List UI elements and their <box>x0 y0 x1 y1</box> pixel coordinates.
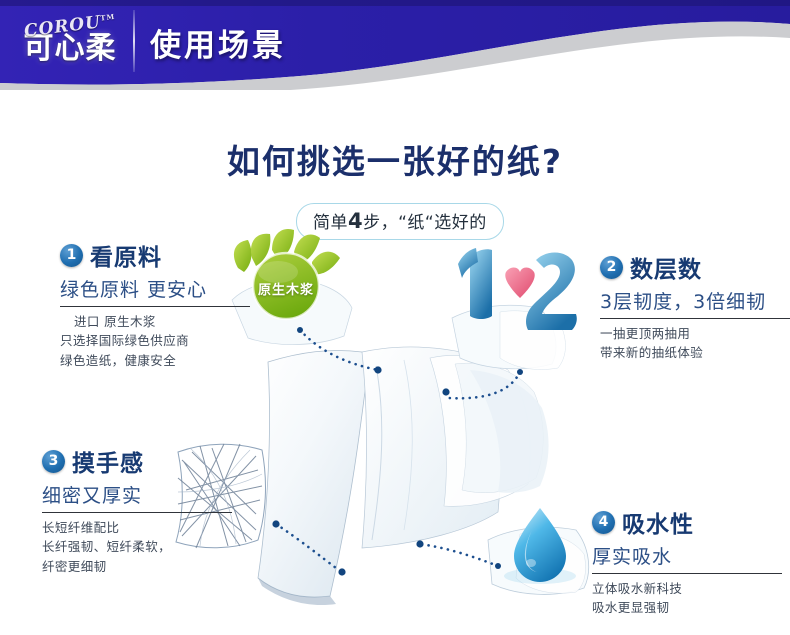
central-tissue-graphic <box>258 347 549 605</box>
step-3-desc-line-2: 长纤强韧、短纤柔软， <box>42 537 232 556</box>
step-1-description: 进口 原生木浆 只选择国际绿色供应商 绿色造纸，健康安全 <box>60 312 250 370</box>
step-3-desc-line-3: 纤密更细韧 <box>42 557 232 576</box>
brand-logo: COROUTM 可心柔 <box>14 6 126 76</box>
step-block-3: 3 摸手感 细密又厚实 长短纤维配比 长纤强韧、短纤柔软， 纤密更细韧 <box>42 444 232 576</box>
step-4-heading: 4 吸水性 <box>592 505 782 539</box>
step-3-heading: 3 摸手感 <box>42 444 232 478</box>
step-4-desc-line-1: 立体吸水新科技 <box>592 579 782 598</box>
connector-dotted-lines <box>276 330 520 568</box>
step-4-description: 立体吸水新科技 吸水更显强韧 <box>592 579 782 618</box>
connector-step3 <box>276 524 336 568</box>
step-2-title: 数层数 <box>630 250 702 284</box>
connector-step1 <box>300 330 378 370</box>
page-title: 如何挑选一张好的纸? <box>0 135 790 183</box>
step-block-2: 2 数层数 3层韧度，3倍细韧 一抽更顶两抽用 带来新的抽纸体验 <box>600 250 790 363</box>
step-1-desc-line-2: 只选择国际绿色供应商 <box>60 331 250 350</box>
step-block-1: 1 看原料 绿色原料 更安心 进口 原生木浆 只选择国际绿色供应商 绿色造纸，健… <box>60 238 250 370</box>
step-4-divider <box>592 573 782 574</box>
step-4-subtitle: 厚实吸水 <box>592 542 782 569</box>
layers-number-graphic <box>452 248 577 370</box>
subtitle-suffix: 步，“纸“选好的 <box>363 213 487 233</box>
subtitle-prefix: 简单 <box>313 213 348 233</box>
step-3-subtitle: 细密又厚实 <box>42 481 232 508</box>
step-3-description: 长短纤维配比 长纤强韧、短纤柔软， 纤密更细韧 <box>42 518 232 576</box>
step-4-title: 吸水性 <box>622 505 694 539</box>
step-2-heading: 2 数层数 <box>600 250 790 284</box>
header-divider <box>133 10 135 72</box>
step-block-4: 4 吸水性 厚实吸水 立体吸水新科技 吸水更显强韧 <box>592 505 782 618</box>
subtitle-badge: 简单4步，“纸“选好的 <box>296 203 504 240</box>
page-header: COROUTM 可心柔 使用场景 <box>0 0 790 90</box>
step-1-number-badge: 1 <box>60 244 83 267</box>
step-1-desc-line-3: 绿色造纸，健康安全 <box>60 351 250 370</box>
connector-step4 <box>420 544 498 566</box>
brand-trademark-icon: TM <box>100 12 116 23</box>
step-1-desc-line-1: 进口 原生木浆 <box>60 312 250 331</box>
seal-label: 原生木浆 <box>256 279 316 298</box>
step-3-number-badge: 3 <box>42 450 65 473</box>
connector-step2 <box>448 372 520 398</box>
step-3-divider <box>42 512 232 513</box>
step-4-number-badge: 4 <box>592 511 615 534</box>
step-3-desc-line-1: 长短纤维配比 <box>42 518 232 537</box>
step-2-desc-line-1: 一抽更顶两抽用 <box>600 324 790 343</box>
step-1-title: 看原料 <box>90 238 162 272</box>
step-2-description: 一抽更顶两抽用 带来新的抽纸体验 <box>600 324 790 363</box>
step-2-subtitle: 3层韧度，3倍细韧 <box>600 287 790 314</box>
subtitle-number: 4 <box>348 209 363 233</box>
water-drop-graphic <box>488 508 589 594</box>
step-4-desc-line-2: 吸水更显强韧 <box>592 598 782 617</box>
step-2-number-badge: 2 <box>600 256 623 279</box>
step-3-title: 摸手感 <box>72 444 144 478</box>
step-2-desc-line-2: 带来新的抽纸体验 <box>600 343 790 362</box>
step-1-divider <box>60 306 250 307</box>
step-1-subtitle: 绿色原料 更安心 <box>60 275 250 302</box>
header-title: 使用场景 <box>150 20 286 65</box>
step-1-heading: 1 看原料 <box>60 238 250 272</box>
step-2-divider <box>600 318 790 319</box>
connector-endpoint-dots <box>272 327 523 576</box>
page-root: COROUTM 可心柔 使用场景 如何挑选一张好的纸? 简单4步，“纸“选好的 <box>0 0 790 635</box>
